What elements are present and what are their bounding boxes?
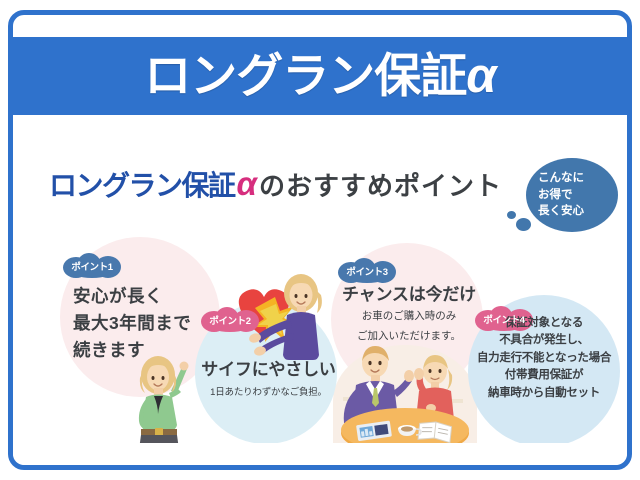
point-2-sub-1: 1日あたりわずかなご負担。 bbox=[196, 384, 341, 398]
point-3-badge-label: ポイント3 bbox=[346, 264, 387, 278]
bubble-tail-large bbox=[516, 218, 531, 231]
point-1-line-3: 続きます bbox=[73, 337, 191, 364]
point-1-text: 安心が長く 最大3年間まで 続きます bbox=[73, 283, 191, 364]
speech-bubble: こんなに お得で 長く安心 bbox=[526, 158, 618, 232]
bubble-line-2: お得で bbox=[538, 187, 573, 204]
subtitle-rest: のおすすめポイント bbox=[259, 171, 502, 201]
point-2-heading: サイフにやさしい bbox=[196, 355, 341, 380]
subtitle: ロングラン保証αのおすすめポイント bbox=[49, 167, 502, 200]
point-4-line-5: 納車時から自動セット bbox=[468, 385, 620, 402]
point-3-text: チャンスは今だけ お車のご購入時のみ ご加入いただけます。 bbox=[333, 280, 485, 345]
point-3-sub-2: ご加入いただけます。 bbox=[333, 329, 485, 345]
point-4-badge-label: ポイント4 bbox=[483, 312, 524, 326]
page-title: ロングラン保証α bbox=[144, 52, 495, 101]
point-1-line-2: 最大3年間まで bbox=[73, 310, 191, 337]
point-2-badge-label: ポイント2 bbox=[209, 313, 250, 327]
point-3-heading: チャンスは今だけ bbox=[333, 280, 485, 305]
point-4-text: 保証対象となる 不具合が発生し、 自力走行不能となった場合 付帯費用保証が 納車… bbox=[468, 315, 620, 402]
point-1-badge: ポイント1 bbox=[63, 253, 121, 278]
point-4-line-4: 付帯費用保証が bbox=[468, 367, 620, 384]
title-alpha: α bbox=[466, 49, 495, 103]
point-3-sub-1: お車のご購入時のみ bbox=[333, 309, 485, 325]
point-4-line-2: 不具合が発生し、 bbox=[468, 332, 620, 349]
bubble-line-3: 長く安心 bbox=[538, 203, 584, 220]
point-1-badge-label: ポイント1 bbox=[71, 259, 112, 273]
subtitle-row: ロングラン保証αのおすすめポイント bbox=[49, 163, 609, 211]
point-2-badge: ポイント2 bbox=[201, 307, 259, 332]
title-banner: ロングラン保証α bbox=[13, 37, 627, 115]
point-1-line-1: 安心が長く bbox=[73, 283, 191, 310]
subtitle-alpha: α bbox=[235, 165, 259, 202]
bubble-line-1: こんなに bbox=[538, 170, 584, 187]
bubble-tail-small bbox=[507, 211, 516, 219]
point-4-line-3: 自力走行不能となった場合 bbox=[468, 350, 620, 367]
title-main: ロングラン保証 bbox=[144, 49, 466, 102]
poster-frame: ロングラン保証α ロングラン保証αのおすすめポイント こんなに お得で 長く安心 bbox=[8, 10, 632, 470]
subtitle-brand: ロングラン保証 bbox=[49, 170, 235, 201]
point-2-text: サイフにやさしい 1日あたりわずかなご負担。 bbox=[196, 355, 341, 398]
bottom-white-area bbox=[13, 443, 627, 465]
